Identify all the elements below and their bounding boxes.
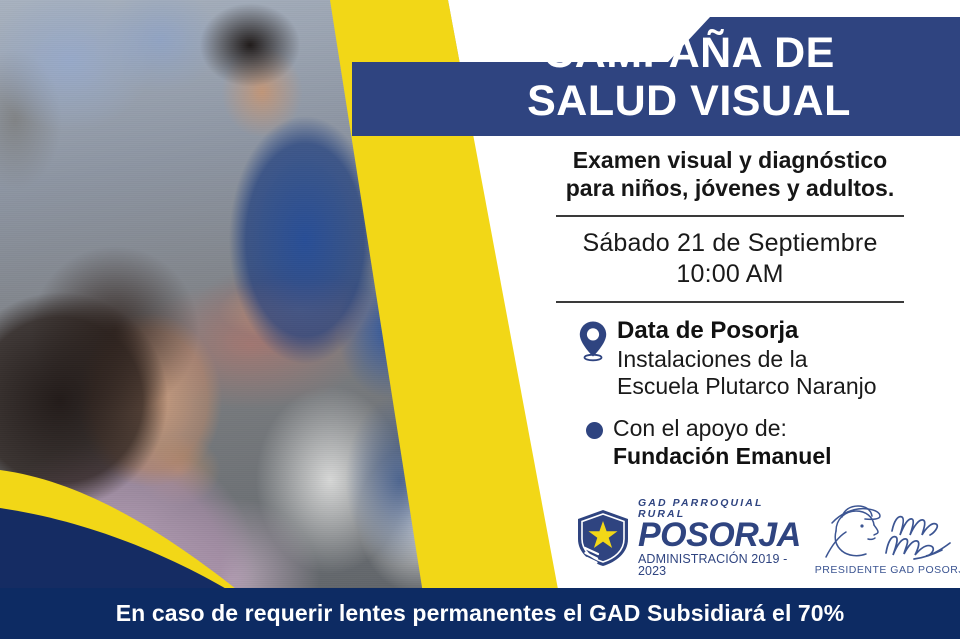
gad-main-text: POSORJA xyxy=(638,520,801,551)
venue-text: Data de Posorja Instalaciones de la Escu… xyxy=(617,317,877,401)
gad-logo-text: GAD PARROQUIAL RURAL POSORJA ADMINISTRAC… xyxy=(638,498,801,577)
support-text: Con el apoyo de: Fundación Emanuel xyxy=(613,414,832,470)
schedule-time: 10:00 AM xyxy=(500,259,960,290)
bullet-dot-icon xyxy=(586,422,603,439)
shield-star-icon xyxy=(575,508,631,568)
poster-subtitle: Examen visual y diagnóstico para niños, … xyxy=(500,140,960,202)
logo-row: GAD PARROQUIAL RURAL POSORJA ADMINISTRAC… xyxy=(575,494,960,582)
sig-head-outline xyxy=(836,511,874,531)
sig-chin xyxy=(842,551,866,556)
sig-nose xyxy=(874,525,878,535)
gad-posorja-logo: GAD PARROQUIAL RURAL POSORJA ADMINISTRAC… xyxy=(575,498,801,577)
support-label: Con el apoyo de: xyxy=(613,414,832,442)
poster-title: CAMPAÑA DE SALUD VISUAL xyxy=(418,20,960,136)
schedule-date: Sábado 21 de Septiembre xyxy=(500,228,960,259)
title-line-1: CAMPAÑA DE xyxy=(543,32,835,76)
pin-ground-ring xyxy=(585,355,602,361)
poster-content: Examen visual y diagnóstico para niños, … xyxy=(500,140,960,470)
sig-last-name xyxy=(886,536,950,555)
man-with-hat-signature-icon xyxy=(818,501,960,563)
venue-title: Data de Posorja xyxy=(617,317,877,346)
bottom-banner-text: En caso de requerir lentes permanentes e… xyxy=(116,600,845,627)
signature-caption: PRESIDENTE GAD POSORJA xyxy=(815,564,960,576)
shield-svg xyxy=(575,508,631,568)
map-pin-svg xyxy=(578,320,608,362)
subtitle-line-1: Examen visual y diagnóstico xyxy=(512,146,948,174)
poster-root: CAMPAÑA DE SALUD VISUAL Examen visual y … xyxy=(0,0,960,639)
support-organization: Fundación Emanuel xyxy=(613,442,832,470)
sig-mouth xyxy=(868,538,875,539)
pin-hole xyxy=(587,328,599,340)
map-pin-icon xyxy=(578,320,608,362)
gad-sub-text: ADMINISTRACIÓN 2019 - 2023 xyxy=(638,553,801,578)
support-block: Con el apoyo de: Fundación Emanuel xyxy=(500,401,960,470)
bottom-banner: En caso de requerir lentes permanentes e… xyxy=(0,588,960,639)
sig-first-name xyxy=(892,516,937,534)
subtitle-line-2: para niños, jóvenes y adultos. xyxy=(512,174,948,202)
venue-line-2: Escuela Plutarco Naranjo xyxy=(617,373,877,401)
schedule-block: Sábado 21 de Septiembre 10:00 AM xyxy=(500,217,960,289)
sig-eye xyxy=(861,524,864,527)
venue-block: Data de Posorja Instalaciones de la Escu… xyxy=(500,303,960,401)
venue-line-1: Instalaciones de la xyxy=(617,346,877,374)
president-signature-logo: PRESIDENTE GAD POSORJA xyxy=(815,501,960,576)
title-line-2: SALUD VISUAL xyxy=(527,80,851,124)
